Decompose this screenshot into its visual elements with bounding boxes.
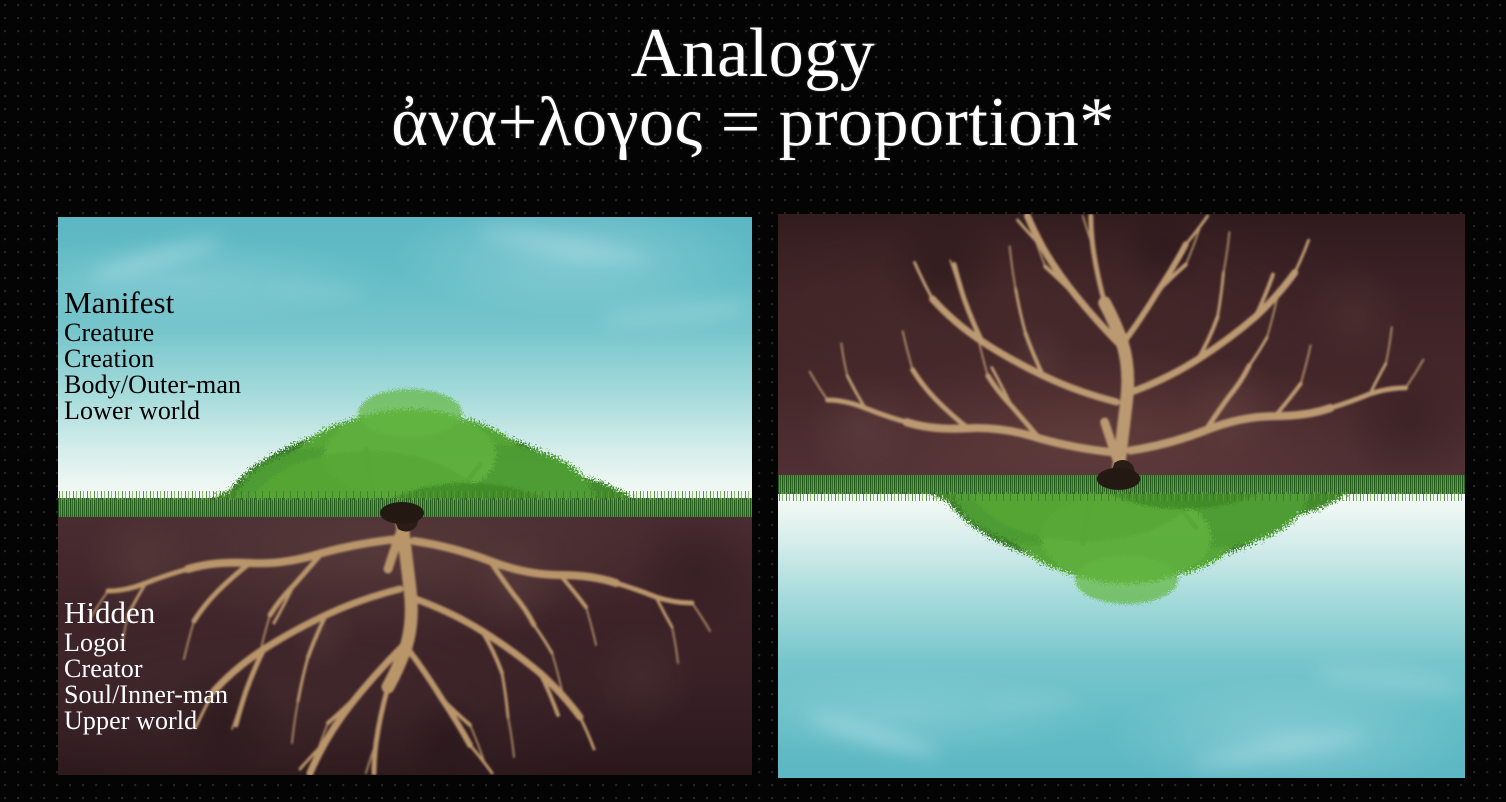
caption-manifest-heading: Manifest — [64, 287, 241, 318]
cloud-wisp-icon — [1190, 725, 1369, 773]
cloud-wisp-icon — [86, 233, 223, 285]
cloud-wisp-icon — [266, 283, 364, 301]
left-image-tree-upright: Manifest Creature Creation Body/Outer-ma… — [58, 217, 752, 775]
grass-horizon-strip — [58, 498, 752, 517]
right-image-tree-inverted — [778, 214, 1465, 778]
right-scene-mirrored — [778, 214, 1465, 778]
caption-manifest: Manifest Creature Creation Body/Outer-ma… — [64, 287, 241, 424]
caption-hidden-heading: Hidden — [64, 597, 228, 628]
caption-hidden-item-0: Logoi — [64, 630, 228, 656]
caption-manifest-item-2: Body/Outer-man — [64, 372, 241, 398]
sky-region-mirrored — [778, 487, 1465, 778]
cloud-wisp-icon — [806, 710, 942, 762]
cloud-wisp-icon — [599, 295, 752, 331]
grass-horizon-strip-mirrored — [778, 475, 1465, 494]
cloud-wisp-icon — [984, 693, 1081, 711]
caption-hidden: Hidden Logoi Creator Soul/Inner-man Uppe… — [64, 597, 228, 734]
title-line-greek-etymology: ἀνα+λογος = proportion* — [0, 87, 1506, 158]
soil-region-mirrored — [778, 214, 1465, 475]
title-line-analogy: Analogy — [0, 18, 1506, 89]
slide-title: Analogy ἀνα+λογος = proportion* — [0, 18, 1506, 159]
caption-manifest-item-1: Creation — [64, 346, 241, 372]
caption-manifest-item-3: Lower world — [64, 398, 241, 424]
caption-hidden-item-1: Creator — [64, 656, 228, 682]
caption-hidden-item-3: Upper world — [64, 708, 228, 734]
caption-hidden-item-2: Soul/Inner-man — [64, 682, 228, 708]
slide-canvas: Analogy ἀνα+λογος = proportion* — [0, 0, 1506, 802]
caption-manifest-item-0: Creature — [64, 320, 241, 346]
cloud-wisp-icon — [1313, 663, 1465, 699]
cloud-wisp-icon — [474, 222, 655, 270]
